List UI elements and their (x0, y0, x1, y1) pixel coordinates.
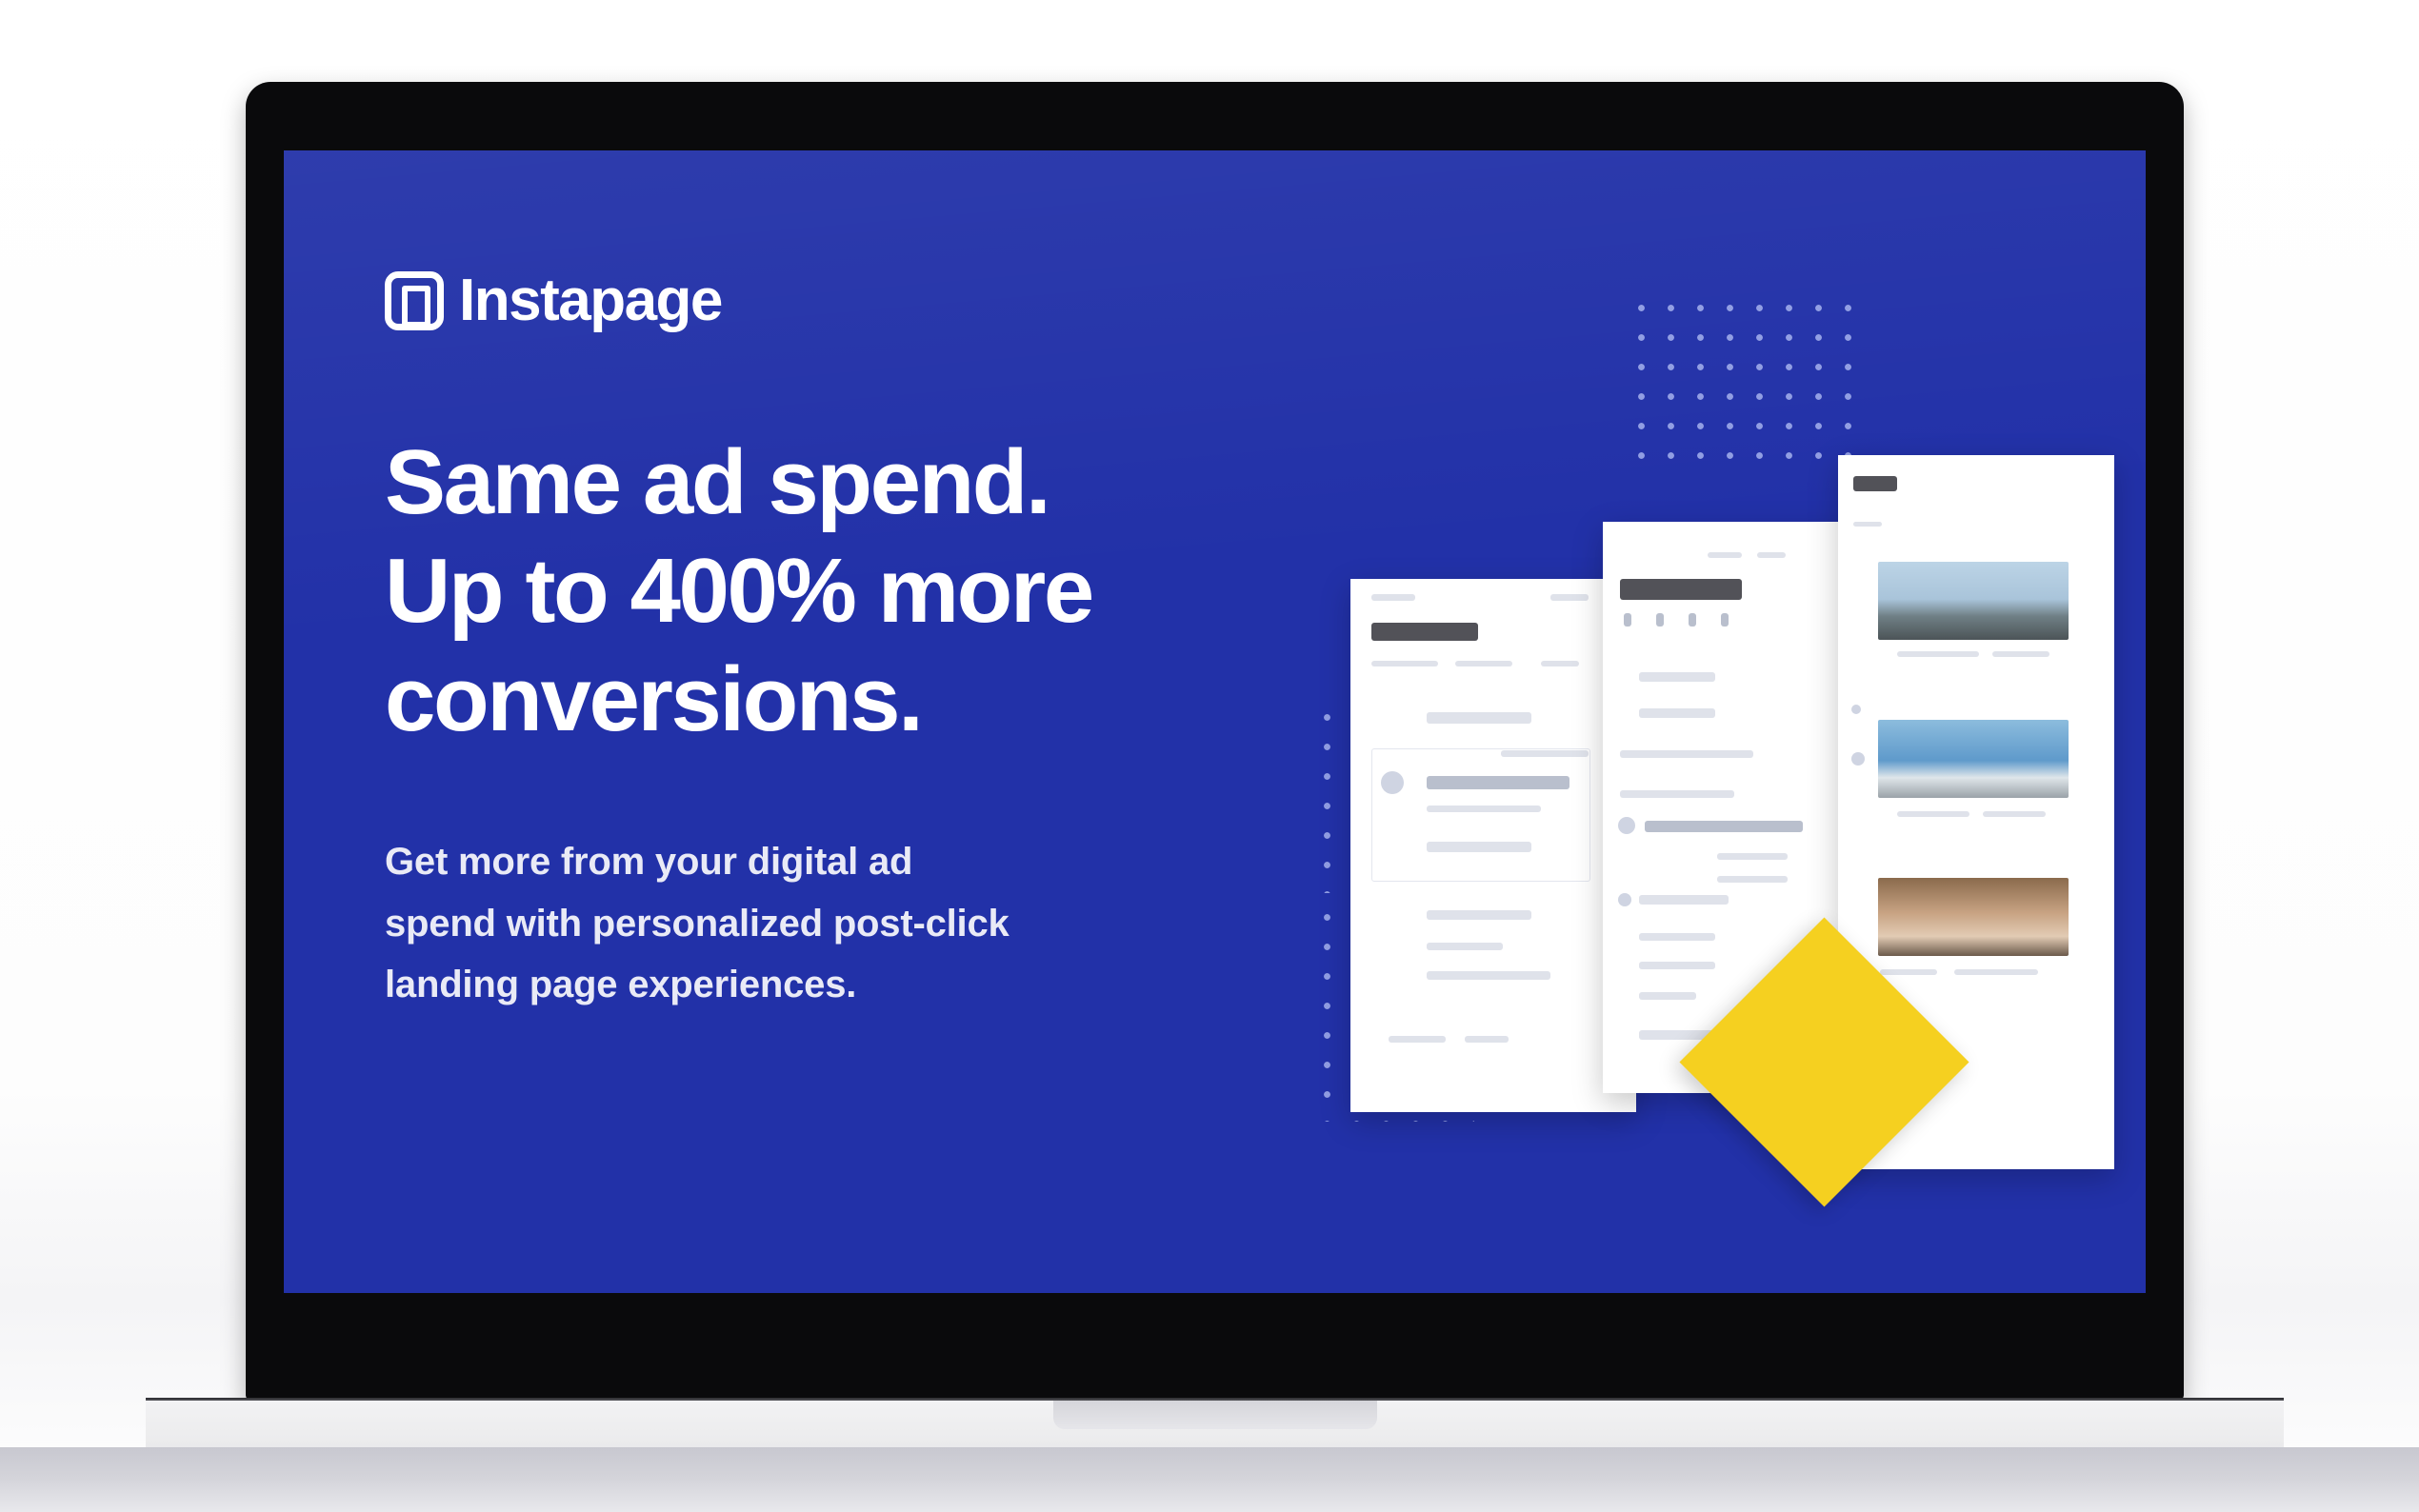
card-chrome-line (1371, 594, 1415, 601)
card-bullet-dot (1851, 752, 1865, 766)
card-chrome-line (1550, 594, 1589, 601)
headline-line-3: conversions. (385, 646, 1347, 754)
subhead-line-1: Get more from your digital ad (385, 831, 1299, 893)
card-tick (1721, 613, 1729, 627)
laptop-mockup: Instapage Same ad spend. Up to 400% more… (246, 82, 2184, 1415)
card-panel (1371, 748, 1590, 882)
thumb-caption-line (1954, 969, 2038, 975)
card-body-line (1455, 661, 1512, 666)
headline-line-1: Same ad spend. (385, 428, 1347, 537)
card-body-line (1427, 712, 1531, 724)
card-tick (1656, 613, 1664, 627)
brand-wordmark: Instapage (459, 271, 722, 330)
card-body-line (1639, 708, 1715, 718)
card-body-line (1717, 876, 1788, 883)
instapage-logo[interactable]: Instapage (385, 265, 1347, 337)
thumb-caption-line (1897, 651, 1979, 657)
card-heading-block (1620, 579, 1742, 600)
thumb-caption-line (1897, 811, 1969, 817)
card-bullet-dot (1851, 705, 1861, 714)
thumb-caption-line (1983, 811, 2046, 817)
thumbnail-warm-interior (1878, 878, 2069, 956)
card-body-line (1717, 853, 1788, 860)
card-emphasis-line (1645, 821, 1803, 832)
card-heading-block (1853, 476, 1897, 491)
card-bullet-dot (1618, 817, 1635, 834)
card-tick (1624, 613, 1631, 627)
card-chrome-line (1708, 552, 1742, 558)
subhead-line-3: landing page experiences. (385, 954, 1299, 1016)
thumb-caption-line (1992, 651, 2049, 657)
headline-line-2: Up to 400% more (385, 537, 1347, 646)
thumbnail-sky-aircraft (1878, 720, 2069, 798)
hero-subheading: Get more from your digital ad spend with… (385, 831, 1299, 1016)
card-footer-line (1389, 1036, 1446, 1043)
card-body-line (1620, 790, 1734, 798)
mock-card-back-left (1350, 579, 1636, 1112)
card-body-line (1427, 971, 1550, 980)
thumb-caption-line (1880, 969, 1937, 975)
hero-copy-column: Instapage Same ad spend. Up to 400% more… (385, 265, 1347, 1016)
laptop-front-notch (1053, 1401, 1377, 1429)
card-tick (1689, 613, 1696, 627)
card-body-line (1639, 992, 1696, 1000)
hero-headline: Same ad spend. Up to 400% more conversio… (385, 428, 1347, 755)
laptop-bezel: Instapage Same ad spend. Up to 400% more… (246, 82, 2184, 1401)
card-body-line (1639, 895, 1729, 905)
card-body-line (1620, 750, 1753, 758)
desk-shadow-band (0, 1447, 2419, 1512)
subhead-line-2: spend with personalized post-click (385, 893, 1299, 955)
dot-grid-top-right (1627, 293, 1874, 479)
card-chrome-line (1757, 552, 1786, 558)
card-body-line (1639, 672, 1715, 682)
hero-illustration (1312, 293, 2112, 1245)
card-bullet-dot (1618, 893, 1631, 906)
card-body-line (1639, 962, 1715, 969)
card-heading-block (1371, 623, 1478, 641)
card-body-line (1853, 522, 1882, 527)
card-body-line (1541, 661, 1579, 666)
card-body-line (1639, 933, 1715, 941)
card-body-line (1371, 661, 1438, 666)
card-body-line (1427, 943, 1503, 950)
card-body-line (1427, 910, 1531, 920)
instapage-square-mark-icon (385, 271, 444, 330)
screenshot-canvas: Instapage Same ad spend. Up to 400% more… (0, 0, 2419, 1512)
card-footer-line (1465, 1036, 1509, 1043)
thumbnail-landscape-building (1878, 562, 2069, 640)
laptop-screen: Instapage Same ad spend. Up to 400% more… (284, 150, 2146, 1293)
